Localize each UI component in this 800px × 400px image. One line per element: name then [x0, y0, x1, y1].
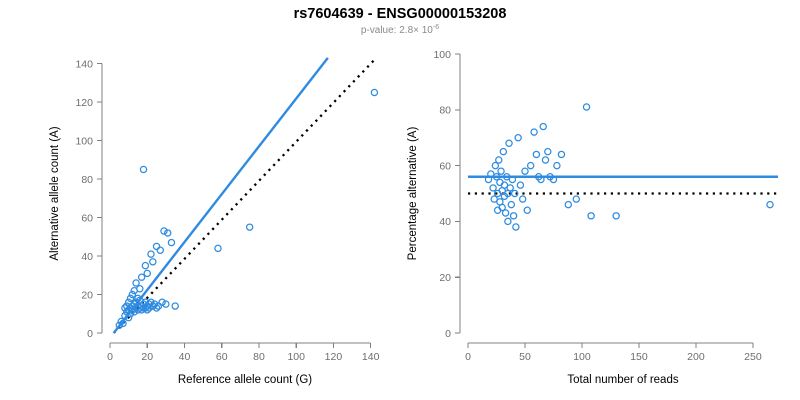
page-title: rs7604639 - ENSG00000153208 — [294, 6, 507, 22]
x-tick-label-5: 250 — [744, 351, 762, 363]
y-tick-label-0: 0 — [87, 328, 93, 340]
y-tick-label-6: 120 — [75, 97, 93, 109]
figure-canvas: rs7604639 - ENSG00000153208 p-value: 2.8… — [0, 0, 800, 400]
x-axis-title: Reference allele count (G) — [178, 374, 312, 386]
x-tick-label-7: 140 — [362, 351, 380, 363]
x-tick-label-2: 40 — [179, 351, 191, 363]
subtitle-exponent: -6 — [433, 24, 439, 31]
y-tick-label-2: 40 — [439, 216, 451, 228]
x-tick-label-1: 20 — [141, 351, 153, 363]
x-tick-label-4: 200 — [687, 351, 705, 363]
x-tick-label-3: 60 — [216, 351, 228, 363]
x-tick-label-3: 150 — [630, 351, 648, 363]
y-tick-label-3: 60 — [81, 212, 93, 224]
y-tick-label-3: 60 — [439, 160, 451, 172]
x-axis-title: Total number of reads — [567, 374, 678, 386]
y-tick-label-4: 80 — [439, 105, 451, 117]
subtitle-pvalue: p-value: 2.8× 10-6 — [361, 24, 439, 36]
x-tick-label-0: 0 — [465, 351, 471, 363]
y-tick-label-1: 20 — [439, 272, 451, 284]
x-tick-label-0: 0 — [107, 351, 113, 363]
x-tick-label-5: 100 — [287, 351, 305, 363]
y-axis-title: Alternative allele count (A) — [49, 126, 61, 260]
y-tick-label-5: 100 — [433, 49, 451, 61]
y-tick-label-5: 100 — [75, 135, 93, 147]
y-tick-label-7: 140 — [75, 58, 93, 70]
x-tick-label-2: 100 — [573, 351, 591, 363]
x-tick-label-1: 50 — [519, 351, 531, 363]
y-axis-title: Percentage alternative (A) — [407, 127, 419, 261]
y-tick-label-4: 80 — [81, 174, 93, 186]
y-tick-label-2: 40 — [81, 251, 93, 263]
subtitle-prefix: p-value: 2.8× 10 — [361, 25, 433, 36]
y-tick-label-0: 0 — [445, 328, 451, 340]
y-tick-label-1: 20 — [81, 289, 93, 301]
x-tick-label-6: 120 — [325, 351, 343, 363]
x-tick-label-4: 80 — [253, 351, 265, 363]
figure-background — [0, 0, 800, 400]
svg-text:p-value: 2.8× 10-6: p-value: 2.8× 10-6 — [361, 24, 439, 36]
